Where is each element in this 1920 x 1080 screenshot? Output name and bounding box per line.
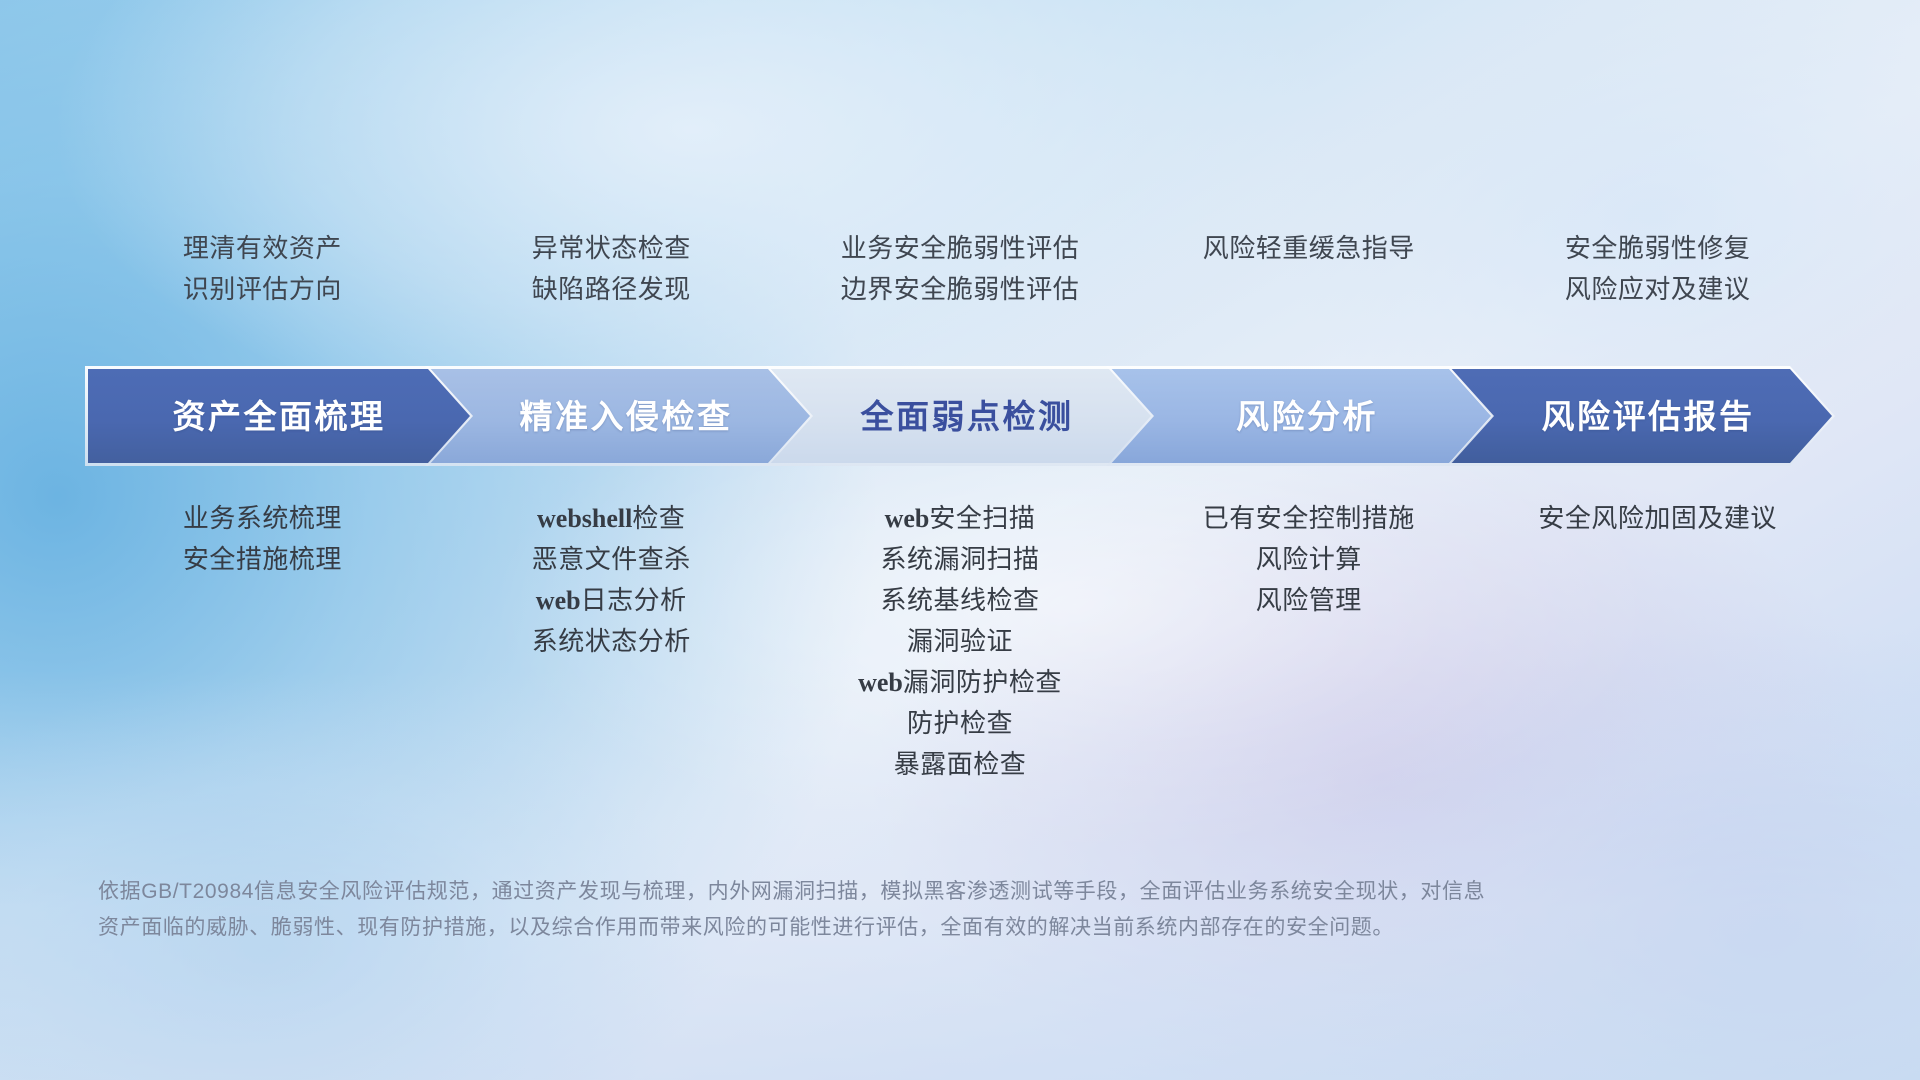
top-notes-column-asset-inventory: 理清有效资产识别评估方向 — [88, 228, 437, 310]
detail-item: 系统状态分析 — [532, 621, 691, 662]
top-notes-column-risk-analysis: 风险轻重缓急指导 — [1134, 228, 1483, 310]
top-note: 风险轻重缓急指导 — [1203, 228, 1415, 269]
detail-item: 业务系统梳理 — [183, 498, 342, 539]
bottom-detail-lists: 业务系统梳理安全措施梳理webshell检查恶意文件查杀web日志分析系统状态分… — [88, 498, 1832, 786]
top-note: 理清有效资产 — [183, 228, 342, 269]
detail-item: 暴露面检查 — [894, 744, 1027, 785]
detail-item-text: 防护检查 — [907, 708, 1013, 738]
chevron-label: 精准入侵检查 — [520, 400, 733, 433]
detail-item-latin: web — [885, 504, 930, 533]
detail-list-asset-inventory: 业务系统梳理安全措施梳理 — [88, 498, 437, 786]
detail-item-text: 漏洞防护检查 — [903, 667, 1062, 697]
detail-list-risk-analysis: 已有安全控制措施风险计算风险管理 — [1134, 498, 1483, 786]
detail-item: 安全措施梳理 — [183, 539, 342, 580]
detail-item-text: 检查 — [632, 503, 685, 533]
chevron-label: 风险分析 — [1236, 400, 1378, 433]
chevron-label: 资产全面梳理 — [173, 400, 386, 433]
detail-item-latin: web — [858, 668, 903, 697]
detail-item-text: 恶意文件查杀 — [532, 544, 691, 574]
footer-description: 依据GB/T20984信息安全风险评估规范，通过资产发现与梳理，内外网漏洞扫描，… — [98, 874, 1658, 946]
top-notes-column-assessment-report: 安全脆弱性修复风险应对及建议 — [1483, 228, 1832, 310]
detail-item: 系统漏洞扫描 — [880, 539, 1039, 580]
detail-item-text: 系统漏洞扫描 — [880, 544, 1039, 574]
detail-list-weakness-detection: web安全扫描系统漏洞扫描系统基线检查漏洞验证web漏洞防护检查防护检查暴露面检… — [786, 498, 1135, 786]
detail-item: 安全风险加固及建议 — [1538, 498, 1777, 539]
top-notes-column-intrusion-check: 异常状态检查缺陷路径发现 — [437, 228, 786, 310]
detail-item-text: 安全风险加固及建议 — [1538, 503, 1777, 533]
detail-item: webshell检查 — [537, 498, 685, 539]
process-chevron-banner: 资产全面梳理精准入侵检查全面弱点检测风险分析风险评估报告 — [88, 369, 1832, 463]
chevron-stage-asset-inventory[interactable]: 资产全面梳理 — [88, 369, 470, 463]
top-notes-row: 理清有效资产识别评估方向异常状态检查缺陷路径发现业务安全脆弱性评估边界安全脆弱性… — [88, 228, 1832, 310]
detail-item-latin: webshell — [537, 504, 632, 533]
detail-item: 恶意文件查杀 — [532, 539, 691, 580]
top-note: 缺陷路径发现 — [532, 269, 691, 310]
top-notes-column-weakness-detection: 业务安全脆弱性评估边界安全脆弱性评估 — [786, 228, 1135, 310]
detail-item-latin: web — [536, 586, 581, 615]
detail-item-text: 漏洞验证 — [907, 626, 1013, 656]
detail-item: 防护检查 — [907, 703, 1013, 744]
detail-item-text: 系统状态分析 — [532, 626, 691, 656]
chevron-stage-risk-analysis[interactable]: 风险分析 — [1109, 369, 1491, 463]
detail-item-text: 日志分析 — [581, 585, 687, 615]
footer-line-1: 依据GB/T20984信息安全风险评估规范，通过资产发现与梳理，内外网漏洞扫描，… — [98, 874, 1658, 910]
chevron-stage-intrusion-check[interactable]: 精准入侵检查 — [428, 369, 810, 463]
top-note: 安全脆弱性修复 — [1565, 228, 1751, 269]
top-note: 业务安全脆弱性评估 — [841, 228, 1080, 269]
detail-item-text: 风险管理 — [1256, 585, 1362, 615]
detail-item-text: 安全措施梳理 — [183, 544, 342, 574]
detail-list-intrusion-check: webshell检查恶意文件查杀web日志分析系统状态分析 — [437, 498, 786, 786]
chevron-stage-weakness-detection[interactable]: 全面弱点检测 — [769, 369, 1151, 463]
detail-item: 系统基线检查 — [880, 580, 1039, 621]
detail-item: 漏洞验证 — [907, 621, 1013, 662]
detail-item-text: 系统基线检查 — [880, 585, 1039, 615]
slide-canvas: 理清有效资产识别评估方向异常状态检查缺陷路径发现业务安全脆弱性评估边界安全脆弱性… — [0, 0, 1920, 1080]
detail-item: 风险管理 — [1256, 580, 1362, 621]
detail-item-text: 安全扫描 — [929, 503, 1035, 533]
detail-item: web漏洞防护检查 — [858, 662, 1062, 703]
detail-item: web日志分析 — [536, 580, 687, 621]
detail-item-text: 暴露面检查 — [894, 749, 1027, 779]
detail-item: web安全扫描 — [885, 498, 1036, 539]
chevron-stage-assessment-report[interactable]: 风险评估报告 — [1450, 369, 1832, 463]
detail-list-assessment-report: 安全风险加固及建议 — [1483, 498, 1832, 786]
top-note: 异常状态检查 — [532, 228, 691, 269]
top-note: 识别评估方向 — [183, 269, 342, 310]
chevron-label: 风险评估报告 — [1542, 400, 1755, 433]
top-note: 风险应对及建议 — [1565, 269, 1751, 310]
detail-item-text: 业务系统梳理 — [183, 503, 342, 533]
top-note: 边界安全脆弱性评估 — [841, 269, 1080, 310]
chevron-label: 全面弱点检测 — [861, 400, 1074, 433]
detail-item-text: 已有安全控制措施 — [1203, 503, 1415, 533]
detail-item-text: 风险计算 — [1256, 544, 1362, 574]
detail-item: 风险计算 — [1256, 539, 1362, 580]
footer-line-2: 资产面临的威胁、脆弱性、现有防护措施，以及综合作用而带来风险的可能性进行评估，全… — [98, 910, 1658, 946]
detail-item: 已有安全控制措施 — [1203, 498, 1415, 539]
